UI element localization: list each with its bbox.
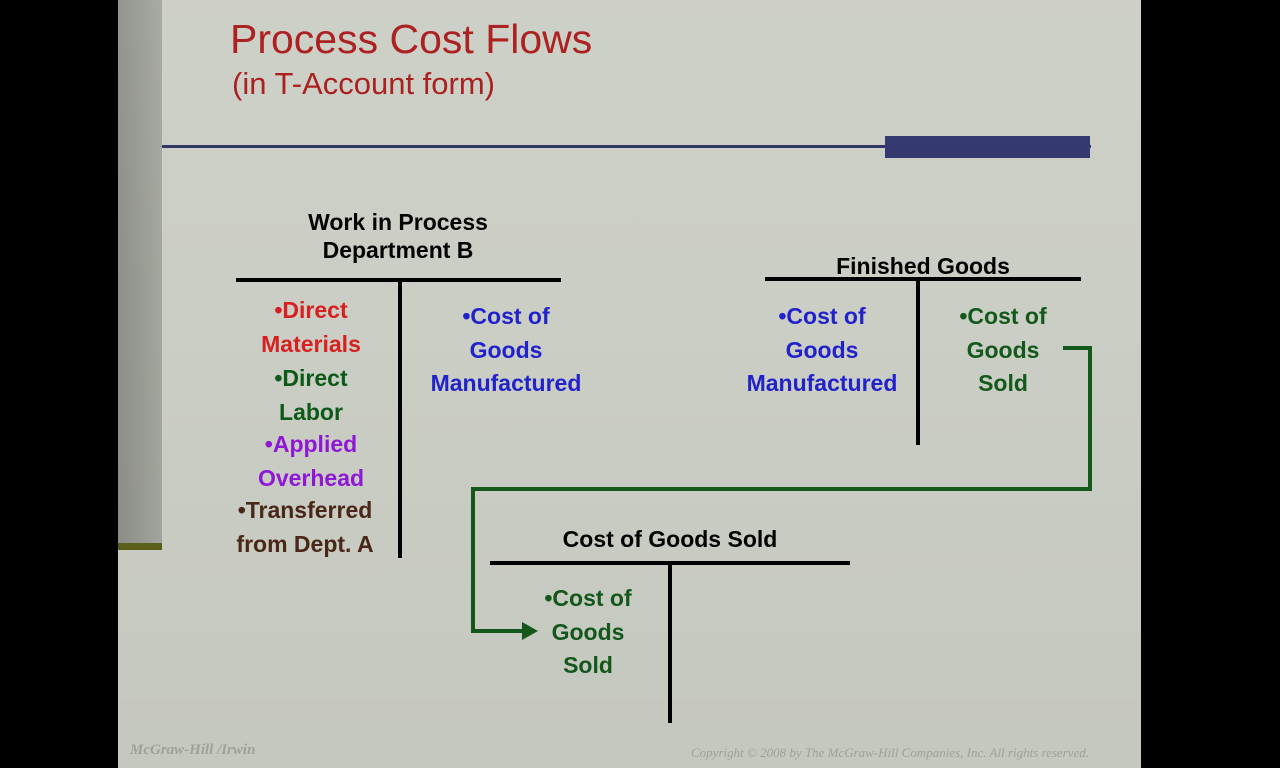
wip-debit-transferred-from-dept-a: •Transferred from Dept. A — [210, 494, 400, 561]
account-title-cost-of-goods-sold: Cost of Goods Sold — [490, 525, 850, 553]
wip-debit-applied-overhead: •Applied Overhead — [222, 428, 400, 495]
presentation-slide: Process Cost Flows (in T-Account form) W… — [118, 0, 1141, 768]
footer-publisher: McGraw-Hill /Irwin — [130, 742, 255, 759]
connector-segment-horizontal — [471, 487, 1092, 491]
screenshot-stage: Process Cost Flows (in T-Account form) W… — [0, 0, 1280, 768]
account-title-finished-goods: Finished Goods — [765, 252, 1081, 280]
wip-debit-direct-labor: •Direct Labor — [222, 362, 400, 429]
wip-credit-cost-of-goods-manufactured: •Cost of Goods Manufactured — [406, 300, 606, 401]
slide-subtitle: (in T-Account form) — [232, 67, 592, 101]
account-stem-cost-of-goods-sold — [668, 561, 672, 723]
slide-title: Process Cost Flows — [230, 18, 592, 61]
fg-credit-cost-of-goods-sold: •Cost of Goods Sold — [924, 300, 1082, 401]
slide-title-block: Process Cost Flows (in T-Account form) — [230, 18, 592, 102]
connector-segment-right-vertical — [1088, 346, 1092, 491]
slide-side-band — [118, 0, 162, 546]
fg-debit-cost-of-goods-manufactured: •Cost of Goods Manufactured — [727, 300, 917, 401]
account-rule-finished-goods — [765, 277, 1081, 281]
footer-copyright: Copyright © 2008 by The McGraw-Hill Comp… — [691, 745, 1089, 761]
slide-side-band-accent — [118, 543, 162, 550]
connector-segment-arrow-shaft — [471, 629, 524, 633]
connector-arrow-head-icon — [522, 622, 538, 640]
title-accent-block — [885, 136, 1090, 158]
connector-segment-left-vertical — [471, 487, 475, 633]
account-title-work-in-process: Work in Process Department B — [236, 208, 560, 264]
wip-debit-direct-materials: •Direct Materials — [222, 294, 400, 361]
